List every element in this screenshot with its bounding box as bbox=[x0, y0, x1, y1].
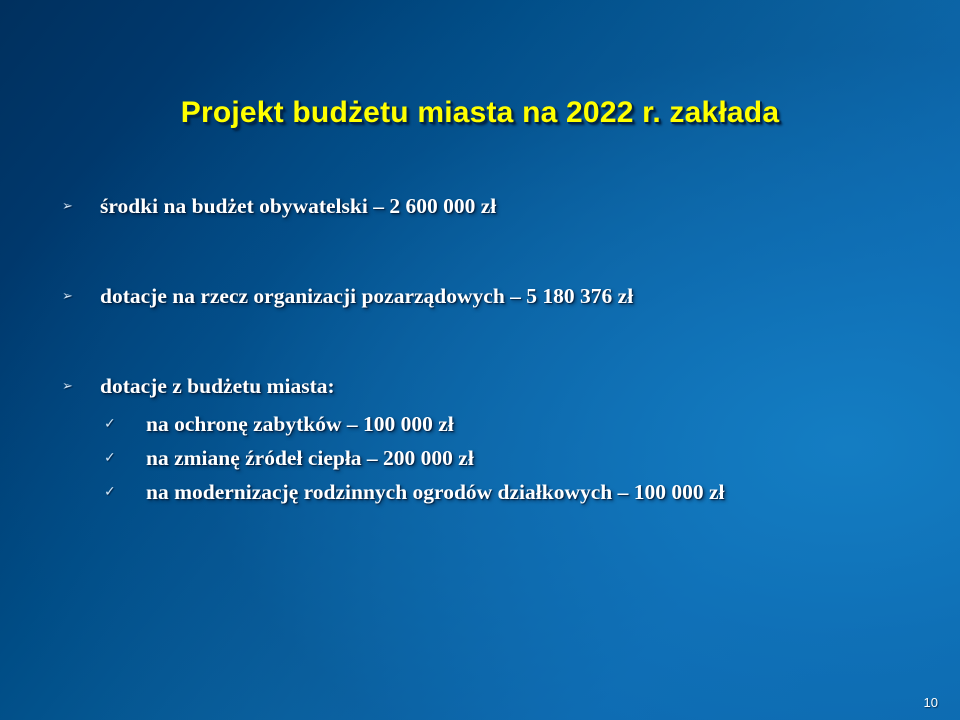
arrow-bullet-icon: ➢ bbox=[62, 373, 100, 401]
presentation-slide: Projekt budżetu miasta na 2022 r. zakład… bbox=[0, 0, 960, 720]
list-item-label: środki na budżet obywatelski – 2 600 000… bbox=[100, 192, 942, 220]
bullet-list: ➢ środki na budżet obywatelski – 2 600 0… bbox=[62, 192, 942, 507]
list-item: ➢ dotacje z budżetu miasta: bbox=[62, 372, 942, 400]
arrow-bullet-icon: ➢ bbox=[62, 283, 100, 311]
slide-number: 10 bbox=[924, 695, 938, 710]
sub-list-item: ✓ na modernizację rodzinnych ogrodów dzi… bbox=[104, 477, 942, 507]
checkmark-icon: ✓ bbox=[104, 443, 146, 473]
list-item-label: dotacje na rzecz organizacji pozarządowy… bbox=[100, 282, 942, 310]
sub-list-item: ✓ na zmianę źródeł ciepła – 200 000 zł bbox=[104, 443, 942, 473]
sub-list-item-label: na zmianę źródeł ciepła – 200 000 zł bbox=[146, 443, 942, 473]
checkmark-icon: ✓ bbox=[104, 409, 146, 439]
list-item-label: dotacje z budżetu miasta: bbox=[100, 372, 942, 400]
sub-list-indent: ✓ na ochronę zabytków – 100 000 zł ✓ na … bbox=[62, 409, 942, 507]
sub-list-item-label: na ochronę zabytków – 100 000 zł bbox=[146, 409, 942, 439]
list-item-group: ➢ dotacje z budżetu miasta: ✓ na ochronę… bbox=[62, 372, 942, 507]
list-item: ➢ dotacje na rzecz organizacji pozarządo… bbox=[62, 282, 942, 310]
sub-list-item: ✓ na ochronę zabytków – 100 000 zł bbox=[104, 409, 942, 439]
sub-list: ✓ na ochronę zabytków – 100 000 zł ✓ na … bbox=[104, 409, 942, 507]
page-title: Projekt budżetu miasta na 2022 r. zakład… bbox=[181, 96, 779, 130]
list-item: ➢ środki na budżet obywatelski – 2 600 0… bbox=[62, 192, 942, 220]
arrow-bullet-icon: ➢ bbox=[62, 193, 100, 221]
title-block: Projekt budżetu miasta na 2022 r. zakład… bbox=[0, 96, 960, 130]
sub-list-item-label: na modernizację rodzinnych ogrodów dział… bbox=[146, 477, 942, 507]
checkmark-icon: ✓ bbox=[104, 477, 146, 507]
